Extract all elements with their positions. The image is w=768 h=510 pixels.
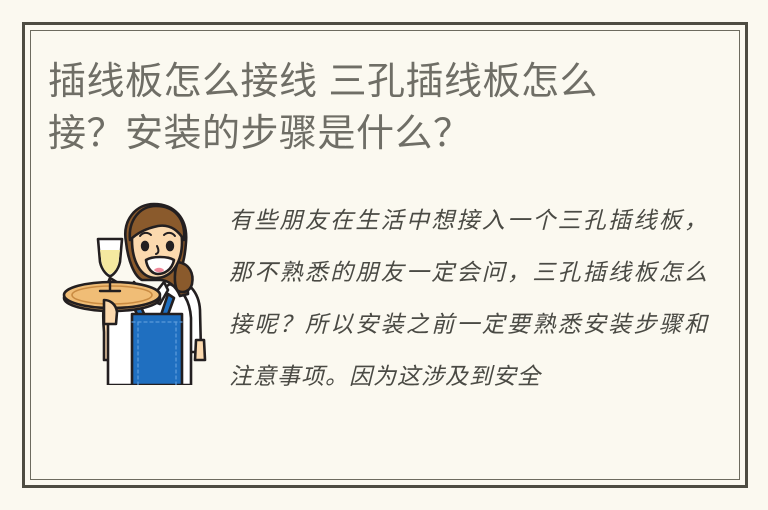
eye-left xyxy=(141,241,149,252)
article-content: 有些朋友在生活中想接入一个三孔插线板，那不熟悉的朋友一定会问，三孔插线板怎么接呢… xyxy=(48,195,708,403)
apron xyxy=(132,314,182,385)
right-forearm xyxy=(195,340,205,360)
eye-right xyxy=(166,241,174,252)
article-body-text: 有些朋友在生活中想接入一个三孔插线板，那不熟悉的朋友一定会问，三孔插线板怎么接呢… xyxy=(229,195,708,403)
waitress-illustration xyxy=(60,200,212,385)
article-title: 插线板怎么接线 三孔插线板怎么接？安装的步骤是什么？ xyxy=(48,56,668,160)
ponytail xyxy=(175,262,193,292)
